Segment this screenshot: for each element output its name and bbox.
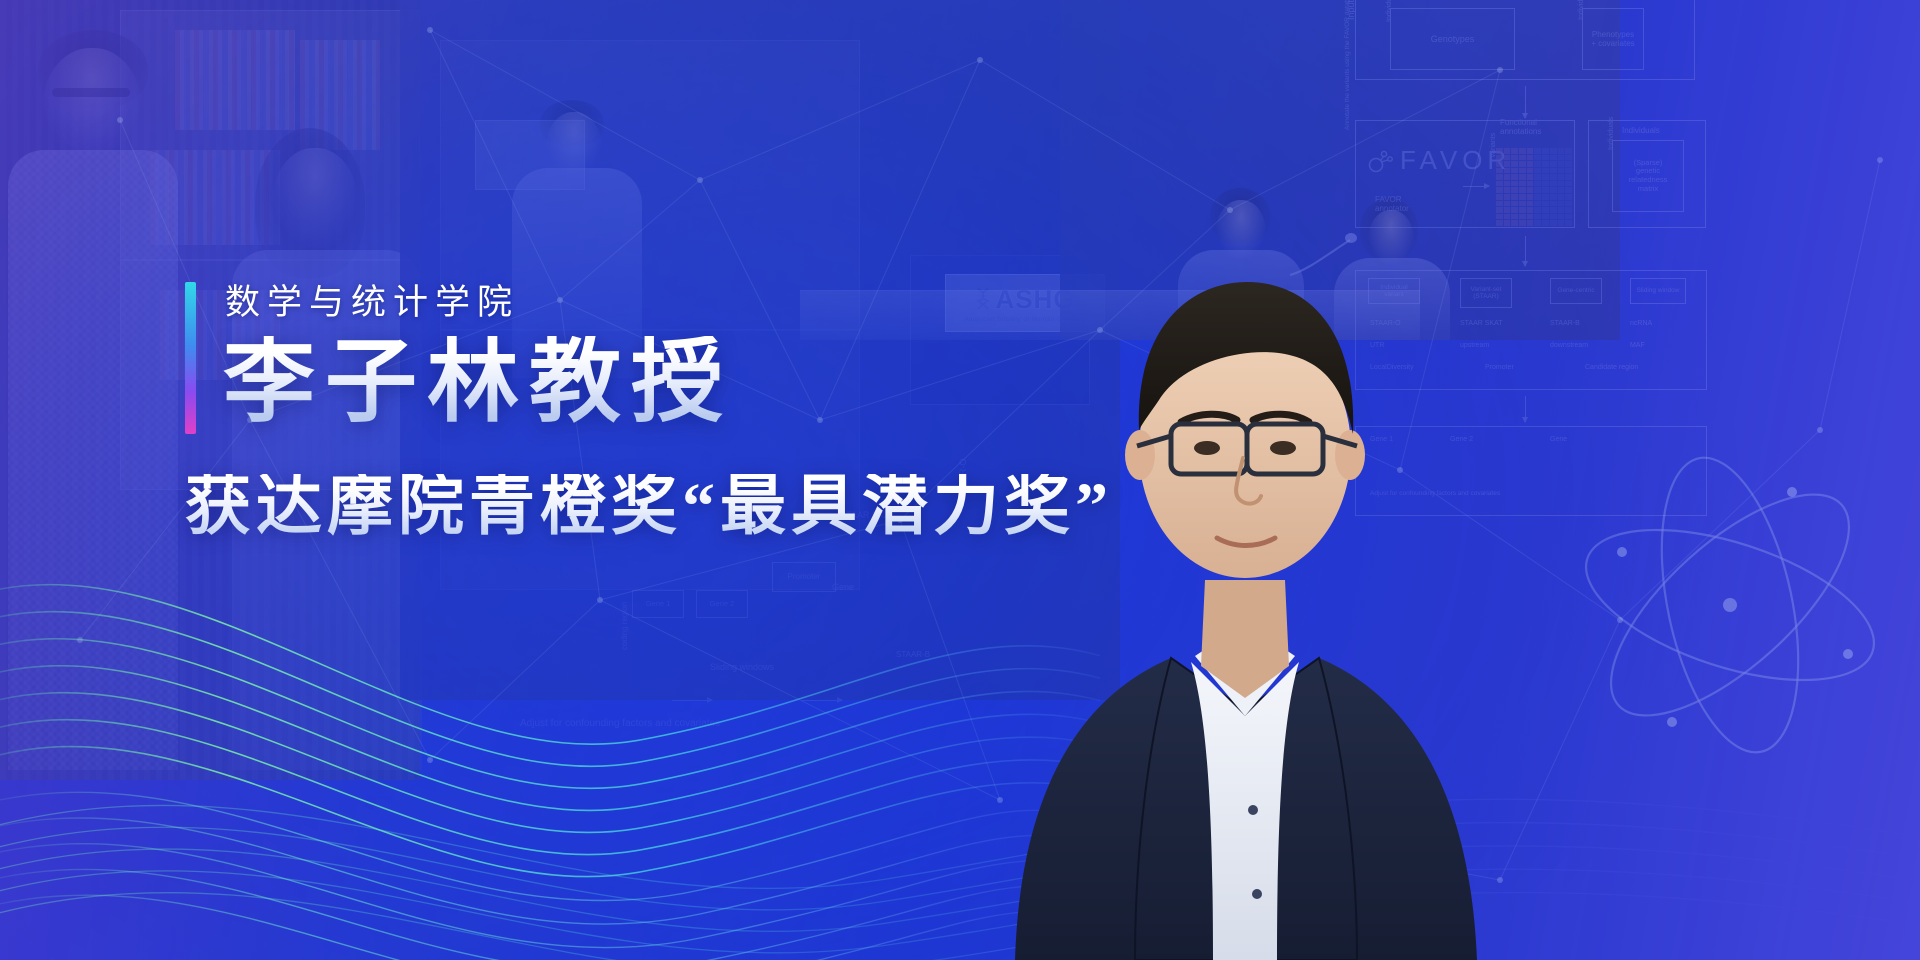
award-headline: 获达摩院青橙奖“最具潜力奖” xyxy=(185,474,1113,540)
department-label: 数学与统计学院 xyxy=(225,274,519,325)
glasses-icon xyxy=(1137,424,1357,474)
gradient-accent-bar xyxy=(185,282,196,434)
award-announcement-banner: ASHG American Society of Human Genetics … xyxy=(0,0,1920,960)
atom-molecule-decoration xyxy=(1560,440,1900,770)
person-name-title: 李子林教授 xyxy=(223,336,733,428)
portrait-professor xyxy=(985,150,1505,960)
